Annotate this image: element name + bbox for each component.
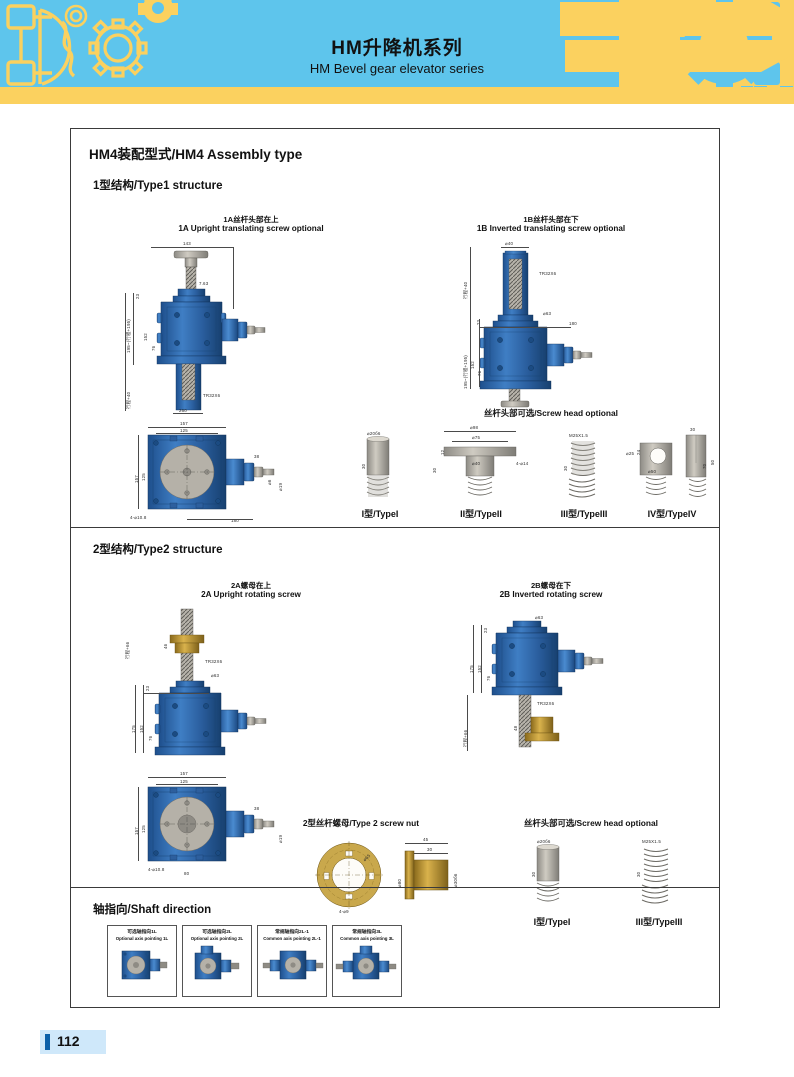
dim-d80: ⌀80	[397, 879, 403, 887]
banner-title-cn: HM升降机系列	[0, 38, 794, 60]
dim-line	[473, 625, 474, 693]
dim-45: 45	[423, 837, 428, 842]
dim-30: 30	[427, 847, 432, 852]
drawing-2b-inverted-rotating-screw: ⌀63 23 175 152 76 TR32X6 48 行程+66	[461, 607, 711, 767]
dim-d63: ⌀63	[535, 615, 543, 621]
dim-line	[135, 685, 136, 753]
screw-head-type3: M25X1.5 30 III型/TypeIII	[541, 421, 627, 521]
page-footer: 112	[40, 1030, 106, 1054]
dim-stroke-40: 行程+40	[463, 282, 469, 299]
dim-line	[481, 625, 482, 693]
dim-d19: ⌀19	[278, 835, 284, 843]
dim-24: 24	[636, 450, 641, 455]
dim-line	[125, 293, 126, 411]
shaft-option-2l[interactable]: 可选轴指向2L Optional axis pointing 2L	[182, 925, 252, 997]
dim-30: 30	[636, 872, 641, 877]
dim-12: 12	[440, 450, 445, 455]
dim-38: 38	[254, 454, 259, 459]
shaft-option-1l[interactable]: 可选轴指向1L Optional axis pointing 1L	[107, 925, 177, 997]
section-divider-1	[71, 527, 719, 528]
screw-head-label-type3: III型/TypeIII	[541, 507, 627, 520]
dim-125-v: 125	[141, 473, 146, 481]
section-heading-type1: 1型结构/Type1 structure	[93, 177, 223, 193]
banner-title-en: HM Bevel gear elevator series	[0, 60, 794, 78]
dim-line	[479, 327, 571, 328]
dim-line	[133, 293, 134, 365]
section-heading-type2: 2型结构/Type2 structure	[93, 541, 223, 557]
dim-76: 76	[148, 736, 153, 741]
dim-23: 23	[483, 628, 488, 633]
dim-line	[467, 695, 468, 751]
dim-157: 157	[180, 421, 188, 426]
dim-line	[414, 853, 448, 854]
dim-d98: ⌀98	[470, 425, 478, 431]
dim-30: 30	[690, 427, 695, 432]
dim-157: 157	[180, 771, 188, 776]
dim-line	[479, 319, 480, 387]
drawing-2a-upright-rotating-screw: 行程+66 46 TR32X6 ⌀63 23 175 152 76	[121, 607, 371, 767]
dim-125: 125	[180, 779, 188, 784]
dim-30: 30	[531, 872, 536, 877]
dim-line	[470, 247, 471, 389]
dim-stroke-195: 195~(行程+195)	[126, 319, 132, 353]
drawing-2-plan-view: 157 125 157 125 80 38 ⌀19 4-⌀10.8	[126, 769, 326, 889]
dim-line	[138, 435, 139, 509]
dim-46: 46	[163, 644, 168, 649]
dim-d75: ⌀75	[472, 435, 480, 441]
dim-763: 7.63	[199, 281, 208, 286]
dim-line	[143, 685, 144, 753]
screw-head-type2: ⌀98 ⌀75 ⌀40 12 30 4-⌀14 II型/TypeII	[426, 421, 536, 521]
dim-d63: ⌀63	[211, 673, 219, 679]
shaft-icon-2l	[183, 943, 253, 987]
dim-line	[151, 247, 233, 248]
dim-line	[138, 787, 139, 861]
shaft-icon-2l-1	[258, 943, 328, 987]
dim-125: 125	[180, 428, 188, 433]
banner-titles: HM升降机系列 HM Bevel gear elevator series	[0, 38, 794, 77]
dim-line	[452, 441, 508, 442]
dim-152: 152	[470, 361, 475, 369]
drawing-caption-1b: 1B丝杆头部在下 1B Inverted translating screw o…	[426, 215, 676, 234]
shaft-option-3l[interactable]: 常规轴指向3L Common axis pointing 3L	[332, 925, 402, 997]
shaft-icon-1l	[108, 943, 178, 987]
drawing-1-plan-view: 157 125 157 125 180 38 ⌀19 ⌀6 4-⌀10.8	[126, 419, 326, 529]
dim-line	[501, 247, 529, 248]
drawing-caption-2a: 2A螺母在上 2A Upright rotating screw	[131, 581, 371, 600]
dim-stroke-195: 195~(行程+195)	[463, 355, 469, 389]
dim-d19: ⌀19	[278, 483, 284, 491]
banner-bottom-strip	[0, 87, 794, 104]
section-heading-shaft-direction: 轴指向/Shaft direction	[93, 901, 211, 917]
dim-thread-tr32x6: TR32X6	[203, 393, 220, 398]
dim-line	[233, 247, 234, 309]
dim-thread-tr32x6: TR32X6	[539, 271, 556, 276]
dim-line	[405, 843, 448, 844]
dim-d20h6: ⌀20б6	[367, 431, 380, 437]
dim-thread-tr32x6: TR32X6	[205, 659, 222, 664]
dim-180: 180	[569, 321, 577, 326]
shaft-option-2l-1[interactable]: 常规轴指向2L-1 Common axis pointing 2L-1	[257, 925, 327, 997]
dim-d6: ⌀6	[267, 480, 273, 486]
dim-stroke-66: 行程+66	[125, 642, 131, 659]
dim-143: 143	[183, 241, 191, 246]
dim-30: 30	[563, 466, 568, 471]
dim-d63: ⌀63	[543, 311, 551, 317]
dim-30: 30	[432, 468, 437, 473]
dim-50: 50	[710, 460, 715, 465]
dim-152: 152	[143, 333, 148, 341]
page-number-bar	[45, 1034, 50, 1050]
dim-23: 23	[145, 686, 150, 691]
dim-line	[148, 777, 226, 778]
page-title: HM4装配型式/HM4 Assembly type	[89, 143, 302, 163]
drawing-caption-2b: 2B螺母在下 2B Inverted rotating screw	[426, 581, 676, 600]
dim-line	[156, 433, 218, 434]
dim-80: 80	[184, 871, 189, 876]
dim-line	[444, 431, 516, 432]
dim-23: 23	[135, 294, 140, 299]
dim-d50: ⌀50	[648, 469, 656, 475]
page-banner: HM升降机系列 HM Bevel gear elevator series	[0, 0, 794, 104]
dim-m25x15: M25X1.5	[642, 839, 661, 844]
dim-4-d14: 4-⌀14	[516, 461, 528, 467]
dim-d40: ⌀40	[472, 461, 480, 467]
dim-m25x15: M25X1.5	[569, 433, 588, 438]
drawing-caption-1a: 1A丝杆头部在上 1A Upright translating screw op…	[131, 215, 371, 234]
dim-38: 38	[254, 806, 259, 811]
dim-4-d9: 4-⌀9	[339, 909, 349, 915]
drawing-1b-inverted-translating-screw: ⌀40 TR32X6 ⌀63 180 23 152 76 行程+40 195~(…	[461, 241, 711, 406]
screw-head-2-label-type3: III型/TypeIII	[616, 915, 702, 928]
dim-70: 70	[702, 464, 707, 469]
dim-4-d108: 4-⌀10.8	[148, 867, 165, 873]
section-divider-2	[71, 887, 719, 888]
dim-line	[187, 519, 253, 520]
shaft-direction-grid: 可选轴指向1L Optional axis pointing 1L 可选轴指向2…	[107, 925, 402, 997]
drawing-type2-screw-nut: 45 30 ⌀80 ⌀65 ⌀30б6 4-⌀9	[301, 835, 501, 925]
dim-48: 48	[513, 726, 518, 731]
dim-30: 30	[361, 464, 366, 469]
screw-head-2-label-type1: I型/TypeI	[511, 915, 593, 928]
screw-head-2-type3: M25X1.5 30 III型/TypeIII	[616, 835, 702, 935]
page-number: 112	[57, 1033, 80, 1049]
dim-76: 76	[151, 346, 156, 351]
dim-line	[143, 693, 209, 694]
screw-head-2-type1: ⌀20б6 30 I型/TypeI	[511, 835, 593, 935]
screw-head-label-type2: II型/TypeII	[426, 507, 536, 520]
dim-125-v: 125	[141, 825, 146, 833]
screw-head-label-type4: IV型/TypeIV	[626, 507, 718, 520]
drawing-1a-upright-translating-screw: 143 7.63 23 152 76 260 195~(行程+195) 行程+4…	[121, 241, 371, 401]
dim-thread-tr32x6: TR32X6	[537, 701, 554, 706]
dim-line	[173, 413, 203, 414]
banner-chevron-upper	[560, 2, 794, 36]
screw-head-type1: ⌀20б6 30 I型/TypeI	[339, 421, 421, 521]
dim-d30h6: ⌀30б6	[453, 874, 459, 887]
content-frame: HM4装配型式/HM4 Assembly type 1型结构/Type1 str…	[70, 128, 720, 1008]
dim-line	[156, 784, 218, 785]
dim-d20h6: ⌀20б6	[537, 839, 550, 845]
screw-head-type4: 30 50 70 24 ⌀25 ⌀50 IV型/TypeIV	[626, 421, 718, 521]
dim-stroke-66: 行程+66	[463, 730, 469, 747]
dim-stroke-40: 行程+40	[126, 392, 132, 409]
screw-head-optional-title-1: 丝杆头部可选/Screw head optional	[401, 407, 701, 419]
dim-d25: ⌀25	[626, 451, 634, 457]
screw-head-optional-title-2: 丝杆头部可选/Screw head optional	[471, 817, 711, 829]
dim-4-d108: 4-⌀10.8	[130, 515, 147, 521]
screw-head-label-type1: I型/TypeI	[339, 507, 421, 520]
shaft-icon-3l	[333, 943, 403, 987]
dim-76: 76	[486, 676, 491, 681]
